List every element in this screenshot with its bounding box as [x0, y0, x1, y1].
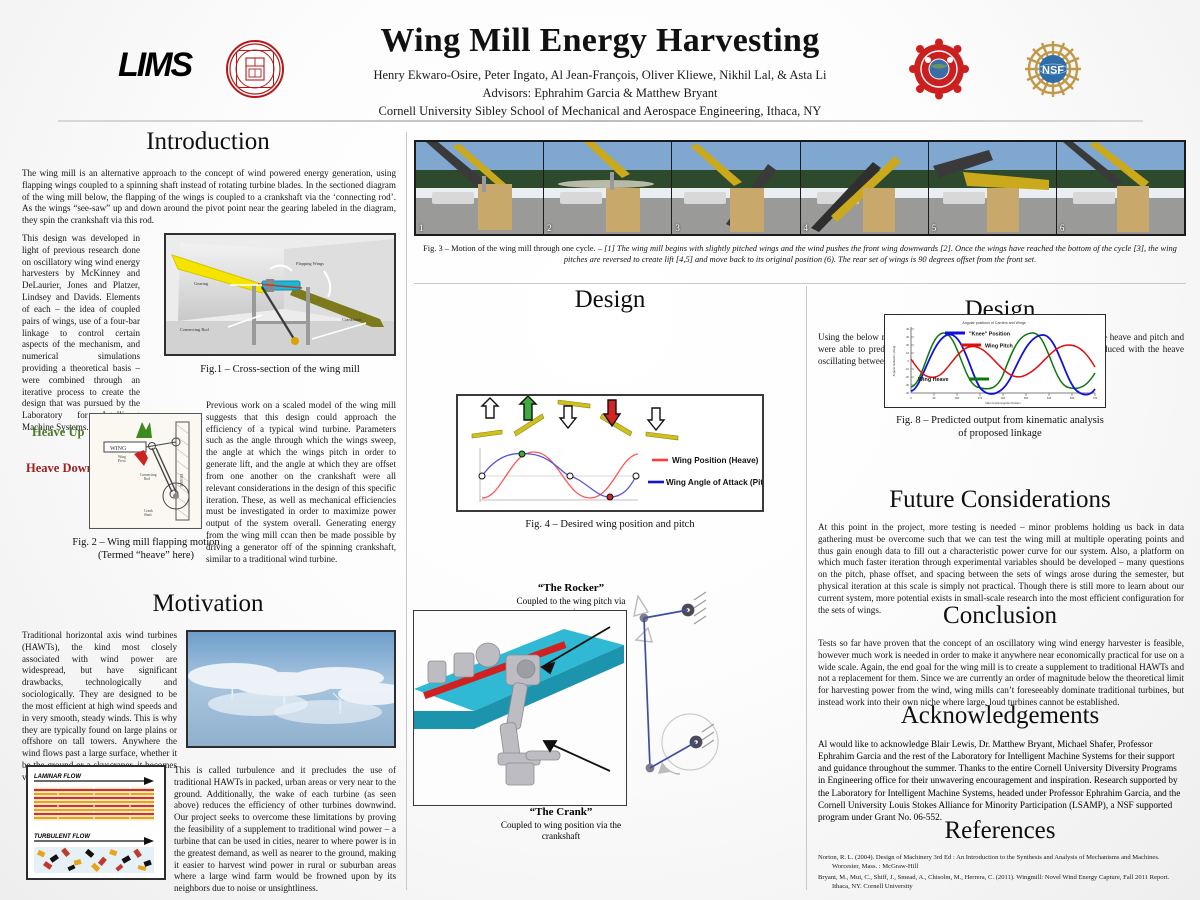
- photo-frame: 4: [801, 142, 929, 234]
- wingmill-photo-6-icon: [1057, 142, 1184, 234]
- left-column: Introduction The wing mill is an alterna…: [16, 128, 400, 890]
- photo-frame-number: 5: [932, 223, 937, 233]
- heave-down-label: Heave Down: [26, 461, 94, 476]
- references-list: Norton, R. L. (2004). Design of Machiner…: [818, 854, 1184, 894]
- advisor-list: Advisors: Ephrahim Garcia & Matthew Brya…: [280, 84, 920, 102]
- nsf-seal-icon: NSF: [1022, 38, 1084, 100]
- laminar-flow-label: LAMINAR FLOW: [34, 774, 82, 780]
- page-title: Wing Mill Energy Harvesting: [300, 22, 900, 60]
- conclusion-heading: Conclusion: [812, 602, 1188, 630]
- future-considerations-heading: Future Considerations: [812, 486, 1188, 514]
- svg-text:"Knee" Position: "Knee" Position: [969, 332, 1010, 338]
- cornell-seal-logo: [226, 40, 284, 98]
- svg-text:540: 540: [1047, 396, 1052, 400]
- desired-position-pitch-chart-icon: Wing Position (Heave) Wing Angle of Atta…: [458, 396, 762, 510]
- svg-text:-20: -20: [905, 375, 909, 379]
- photo-frame: 5: [929, 142, 1057, 234]
- svg-text:360: 360: [1001, 396, 1006, 400]
- figure-4-image: Wing Position (Heave) Wing Angle of Atta…: [456, 394, 764, 512]
- photo-frame-number: 3: [675, 223, 680, 233]
- linkage-cad-render: [413, 610, 627, 806]
- column-divider-left: [406, 132, 407, 890]
- wingmill-photo-1-icon: [416, 142, 544, 234]
- lims-logo: LIMS: [118, 46, 210, 86]
- mae-logo: [908, 38, 970, 100]
- svg-text:450: 450: [1024, 396, 1029, 400]
- wingmill-photo-2-icon: [544, 142, 672, 234]
- motivation-paragraph-2: This is called turbulence and it preclud…: [174, 765, 396, 895]
- svg-text:Wing Angle of Attack (Pitch): Wing Angle of Attack (Pitch): [666, 478, 762, 487]
- wind-farm-wake-photo: [186, 630, 396, 748]
- rocker-title: “The Rocker”: [538, 582, 604, 594]
- flapping-motion-sketch-icon: WING Wing Pivot Connecting Rod Crank Sha…: [90, 414, 200, 527]
- reference-item: Bryant, M., Mui, C., Shiff, J., Smead, A…: [818, 874, 1184, 892]
- figure-1-caption: Fig.1 – Cross-section of the wing mill: [164, 363, 396, 376]
- photo-frame: 3: [672, 142, 800, 234]
- heave-up-label: Heave Up: [32, 425, 84, 440]
- figure-2-image: WING Wing Pivot Connecting Rod Crank Sha…: [89, 413, 202, 529]
- flow-comparison-icon: LAMINAR FLOW TURBUL: [28, 767, 164, 878]
- svg-text:NSF: NSF: [1042, 65, 1064, 77]
- author-list: Henry Ekwaro-Osire, Peter Ingato, Al Jea…: [280, 66, 920, 84]
- svg-text:720: 720: [1093, 396, 1098, 400]
- photo-frame-number: 1: [419, 223, 424, 233]
- svg-text:WING: WING: [110, 446, 127, 452]
- turbine-wake-clouds-icon: [188, 632, 394, 746]
- svg-text:Wing Pitch: Wing Pitch: [985, 344, 1013, 350]
- right-column: Design Using the below mechanism, we con…: [812, 282, 1188, 894]
- turbulent-flow-label: TURBULENT FLOW: [34, 834, 91, 840]
- acknowledgements-heading: Acknowledgements: [812, 702, 1188, 730]
- photo-frame-number: 6: [1060, 223, 1065, 233]
- poster-header: LIMS Wing Mill Energy Harvesting Henry E…: [0, 0, 1200, 122]
- poster-canvas: LIMS Wing Mill Energy Harvesting Henry E…: [0, 0, 1200, 900]
- photo-frame: 6: [1057, 142, 1184, 234]
- fig8-y-axis-label: Angular Deflection (Deg): [892, 346, 896, 377]
- svg-text:270: 270: [978, 396, 983, 400]
- acknowledgements-paragraph: Al would like to acknowledge Blair Lewis…: [818, 738, 1184, 823]
- figure-8-caption-line1: Fig. 8 – Predicted output from kinematic…: [862, 414, 1138, 427]
- crank-annotation: “The Crank” Coupled to wing position via…: [496, 802, 626, 842]
- center-column: Design: [414, 282, 806, 894]
- svg-text:Rod: Rod: [144, 477, 150, 481]
- mae-sun-icon: [908, 38, 970, 100]
- column-divider-right: [806, 286, 807, 890]
- motivation-paragraph-1: Traditional horizontal axis wind turbine…: [22, 630, 177, 784]
- kinematic-output-plot-icon: Angular positions of Carriers and Wings …: [885, 315, 1103, 405]
- references-heading: References: [812, 817, 1188, 845]
- figure-1-image: Flapping Wings Gearing Connecting Rod Cr…: [164, 233, 396, 356]
- svg-text:-10: -10: [905, 367, 909, 371]
- svg-text:Crankshaft: Crankshaft: [342, 317, 362, 322]
- introduction-paragraph-2: This design was developed in light of pr…: [22, 233, 140, 434]
- crank-subtitle: Coupled to wing position via the cranksh…: [496, 820, 626, 842]
- svg-text:Wing Heave: Wing Heave: [918, 377, 949, 383]
- figure-3-photo-strip: 1 2 3: [414, 140, 1186, 236]
- svg-text:Shaft: Shaft: [144, 513, 152, 517]
- svg-text:-30: -30: [905, 383, 909, 387]
- introduction-paragraph-3: Previous work on a scaled model of the w…: [206, 400, 396, 565]
- design-center-heading: Design: [414, 286, 806, 314]
- reference-item: Norton, R. L. (2004). Design of Machiner…: [818, 854, 1184, 872]
- photo-frame: 2: [544, 142, 672, 234]
- four-bar-kinematic-schematic: [622, 582, 804, 822]
- figure-3-caption-prefix: Fig. 3 – Motion of the wing mill through…: [423, 244, 604, 253]
- svg-text:FRAME: FRAME: [179, 474, 183, 488]
- nsf-logo: NSF: [1022, 38, 1084, 100]
- conclusion-paragraph: Tests so far have proven that the concep…: [818, 638, 1184, 709]
- wingmill-photo-5-icon: [929, 142, 1057, 234]
- crank-title: “The Crank”: [530, 806, 593, 818]
- figure-3-caption: Fig. 3 – Motion of the wing mill through…: [414, 243, 1186, 266]
- introduction-paragraph-1: The wing mill is an alternative approach…: [22, 168, 396, 227]
- svg-text:Connecting Rod: Connecting Rod: [180, 327, 209, 332]
- affiliation: Cornell University Sibley School of Mech…: [280, 102, 920, 120]
- wingmill-photo-4-icon: [801, 142, 929, 234]
- svg-text:630: 630: [1070, 396, 1075, 400]
- figure-8-caption-line2: of proposed linkage: [862, 427, 1138, 440]
- svg-text:180: 180: [955, 396, 960, 400]
- laminar-turbulent-flow-diagram: LAMINAR FLOW TURBUL: [26, 765, 166, 880]
- motivation-heading: Motivation: [16, 590, 400, 618]
- wingmill-photo-3-icon: [672, 142, 800, 234]
- author-block: Henry Ekwaro-Osire, Peter Ingato, Al Jea…: [280, 66, 920, 120]
- header-divider: [58, 120, 1143, 122]
- svg-text:Pivot: Pivot: [118, 459, 126, 463]
- crank-rocker-cad-icon: [414, 611, 624, 803]
- svg-text:-40: -40: [905, 391, 909, 395]
- photo-frame-number: 4: [804, 223, 809, 233]
- svg-text:Wing Position (Heave): Wing Position (Heave): [672, 456, 759, 465]
- wing-mill-cross-section-icon: Flapping Wings Gearing Connecting Rod Cr…: [166, 235, 394, 354]
- photo-frame: 1: [416, 142, 544, 234]
- fig8-x-axis-label: Main Crank Angular Position: [985, 401, 1021, 405]
- fig8-chart-title: Angular positions of Carriers and Wings: [962, 321, 1026, 325]
- figure-4-caption: Fig. 4 – Desired wing position and pitch: [456, 518, 764, 531]
- svg-text:Flapping Wings: Flapping Wings: [296, 261, 324, 266]
- photo-frame-number: 2: [547, 223, 552, 233]
- figure-8-chart: Angular positions of Carriers and Wings …: [884, 314, 1106, 408]
- figure-8-caption: Fig. 8 – Predicted output from kinematic…: [862, 414, 1138, 440]
- figure-3-caption-italic: [1] The wing mill begins with slightly p…: [564, 244, 1177, 264]
- svg-text:Gearing: Gearing: [194, 281, 209, 286]
- introduction-heading: Introduction: [16, 128, 400, 156]
- cornell-seal-icon: [228, 42, 282, 96]
